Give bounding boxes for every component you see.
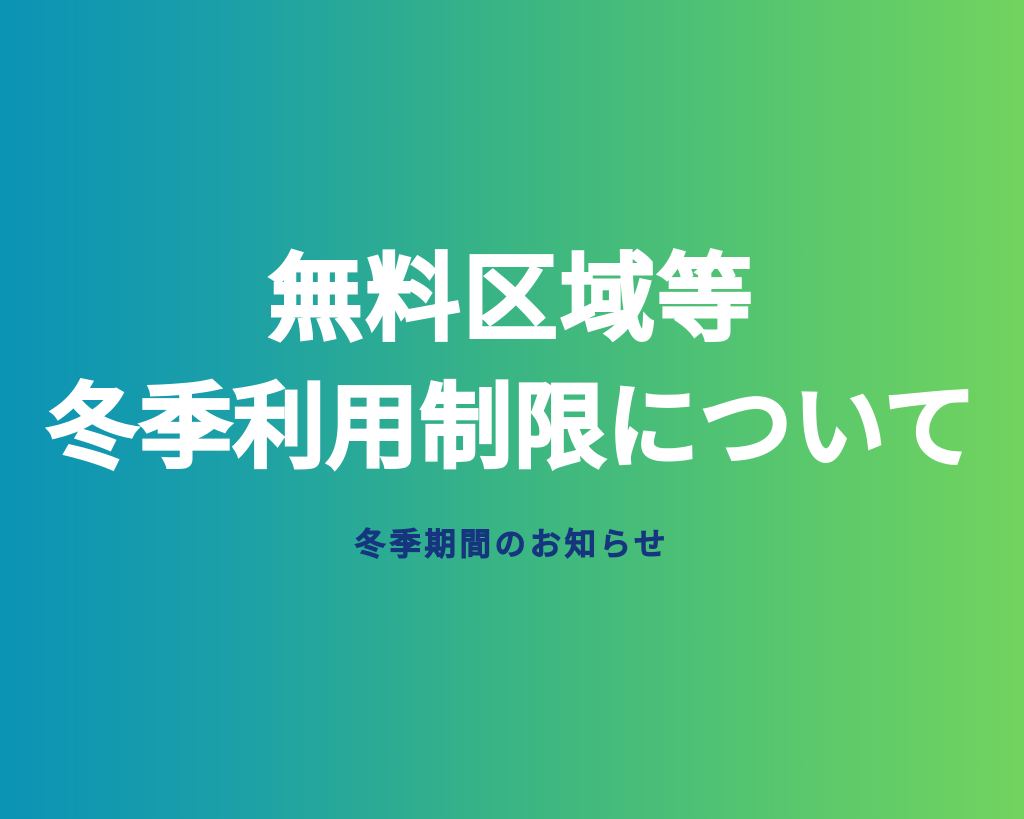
subtitle-text: 冬季期間のお知らせ <box>0 525 1024 565</box>
headline-block: 無料区域等 冬季利用制限について <box>0 236 1024 492</box>
headline-line-1: 無料区域等 <box>269 236 755 364</box>
announcement-slide: 無料区域等 冬季利用制限について 冬季期間のお知らせ <box>0 0 1024 819</box>
headline-line-2: 冬季利用制限について <box>46 364 977 492</box>
